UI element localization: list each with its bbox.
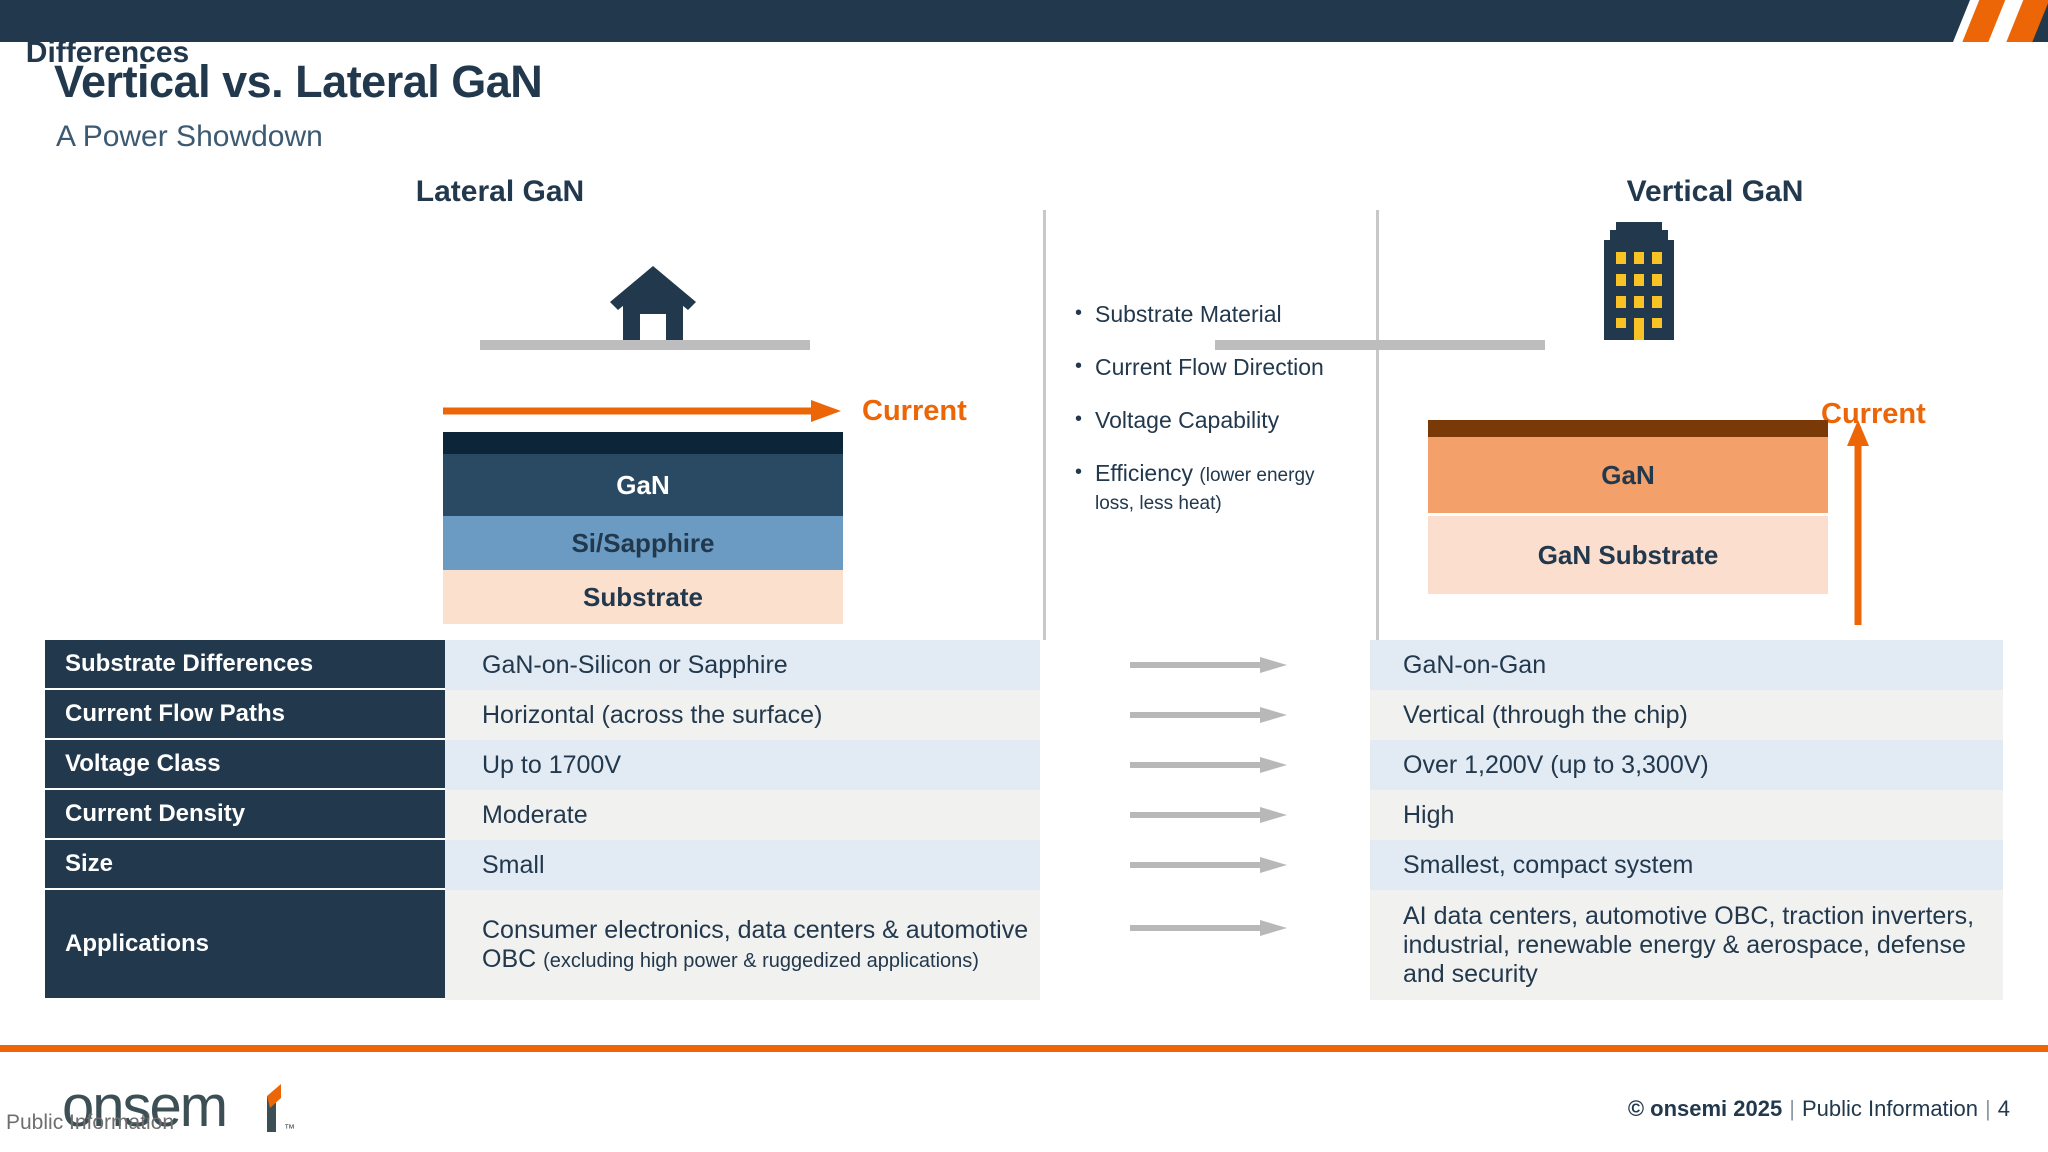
bullet-icon: • xyxy=(1075,459,1083,515)
table-row: Applications Consumer electronics, data … xyxy=(45,890,2003,1000)
comparison-arrow-icon xyxy=(1130,856,1288,874)
page-subtitle: A Power Showdown xyxy=(56,120,323,154)
table-row-label: Size xyxy=(45,840,445,890)
table-arrow-cell xyxy=(1040,640,1370,690)
table-row: Substrate Differences GaN-on-Silicon or … xyxy=(45,640,2003,690)
list-item: • Current Flow Direction xyxy=(1075,353,1350,381)
table-cell-vertical: AI data centers, automotive OBC, tractio… xyxy=(1370,890,2003,1000)
current-label-lateral: Current xyxy=(862,395,967,428)
comparison-arrow-icon xyxy=(1130,756,1288,774)
list-item: • Substrate Material xyxy=(1075,300,1350,328)
table-arrow-cell xyxy=(1040,890,1370,1000)
comparison-table: Substrate Differences GaN-on-Silicon or … xyxy=(45,640,2003,1000)
lateral-column-heading: Lateral GaN xyxy=(330,175,670,209)
table-cell-vertical: GaN-on-Gan xyxy=(1370,640,2003,690)
house-icon xyxy=(608,262,698,340)
bullet-icon: • xyxy=(1075,300,1083,328)
ground-line-vertical xyxy=(1215,340,1545,350)
table-cell-lateral: Small xyxy=(445,840,1040,890)
footer-separator-2: | xyxy=(1985,1096,1991,1121)
table-row: Voltage Class Up to 1700V Over 1,200V (u… xyxy=(45,740,2003,790)
list-item: • Efficiency (lower energy loss, less he… xyxy=(1075,459,1350,515)
table-cell-lateral: GaN-on-Silicon or Sapphire xyxy=(445,640,1040,690)
table-cell-lateral: Horizontal (across the surface) xyxy=(445,690,1040,740)
list-item-main-text: Efficiency xyxy=(1095,460,1193,486)
vertical-stack-diagram: GaN GaN Substrate xyxy=(1428,420,1828,594)
footer-accent-rule xyxy=(0,1045,2048,1052)
lateral-layer-substrate: Substrate xyxy=(443,570,843,624)
bullet-icon: • xyxy=(1075,353,1083,381)
current-label-vertical: Current xyxy=(1821,398,1926,431)
vertical-column-heading: Vertical GaN xyxy=(1545,175,1885,209)
table-cell-vertical: Smallest, compact system xyxy=(1370,840,2003,890)
ground-line-lateral xyxy=(480,340,810,350)
public-information-watermark: Public Information xyxy=(6,1111,174,1135)
comparison-arrow-icon xyxy=(1130,806,1288,824)
table-cell-lateral-note: (excluding high power & ruggedized appli… xyxy=(543,950,979,972)
table-cell-lateral: Up to 1700V xyxy=(445,740,1040,790)
table-arrow-cell xyxy=(1040,840,1370,890)
table-arrow-cell xyxy=(1040,740,1370,790)
lateral-layer-cap xyxy=(443,432,843,454)
lateral-layer-gan: GaN xyxy=(443,454,843,516)
footer-page-number: 4 xyxy=(1998,1096,2010,1121)
page-title: Vertical vs. Lateral GaN xyxy=(54,56,542,108)
table-arrow-cell xyxy=(1040,790,1370,840)
list-item-label: Voltage Capability xyxy=(1095,406,1279,434)
table-row-label: Current Flow Paths xyxy=(45,690,445,740)
current-arrow-vertical-icon xyxy=(1843,420,1873,625)
table-cell-lateral: Moderate xyxy=(445,790,1040,840)
key-differences-list: • Substrate Material • Current Flow Dire… xyxy=(1075,300,1350,540)
footer-meta: © onsemi 2025|Public Information|4 xyxy=(1628,1096,2010,1122)
vertical-layer-gan-substrate: GaN Substrate xyxy=(1428,516,1828,594)
building-icon xyxy=(1598,222,1680,340)
lateral-stack-diagram: GaN Si/Sapphire Substrate xyxy=(443,432,843,624)
footer-separator-1: | xyxy=(1789,1096,1795,1121)
vertical-layer-gan: GaN xyxy=(1428,437,1828,513)
table-cell-lateral: Consumer electronics, data centers & aut… xyxy=(445,890,1040,1000)
current-arrow-horizontal-icon xyxy=(443,398,843,424)
footer-copyright: © onsemi 2025 xyxy=(1628,1096,1782,1121)
table-row-label: Current Density xyxy=(45,790,445,840)
table-row: Current Density Moderate High xyxy=(45,790,2003,840)
table-cell-vertical: High xyxy=(1370,790,2003,840)
table-row-label: Applications xyxy=(45,890,445,1000)
footer-classification: Public Information xyxy=(1802,1096,1978,1121)
bullet-icon: • xyxy=(1075,406,1083,434)
table-row: Current Flow Paths Horizontal (across th… xyxy=(45,690,2003,740)
table-cell-vertical: Over 1,200V (up to 3,300V) xyxy=(1370,740,2003,790)
comparison-arrow-icon xyxy=(1130,656,1288,674)
list-item: • Voltage Capability xyxy=(1075,406,1350,434)
divider-left xyxy=(1043,210,1046,642)
svg-text:™: ™ xyxy=(284,1123,295,1135)
top-bar-slash-group xyxy=(1868,0,2048,42)
table-row-label: Voltage Class xyxy=(45,740,445,790)
list-item-label: Efficiency (lower energy loss, less heat… xyxy=(1095,459,1350,515)
list-item-label: Substrate Material xyxy=(1095,300,1282,328)
divider-right xyxy=(1376,210,1379,642)
table-arrow-cell xyxy=(1040,690,1370,740)
slide-root: Vertical vs. Lateral GaN A Power Showdow… xyxy=(0,0,2048,1152)
table-row: Size Small Smallest, compact system xyxy=(45,840,2003,890)
table-cell-vertical: Vertical (through the chip) xyxy=(1370,690,2003,740)
list-item-label: Current Flow Direction xyxy=(1095,353,1324,381)
comparison-arrow-icon xyxy=(1130,706,1288,724)
lateral-layer-si-sapphire: Si/Sapphire xyxy=(443,516,843,570)
vertical-layer-cap xyxy=(1428,420,1828,437)
comparison-arrow-icon xyxy=(1130,919,1288,937)
top-accent-bar xyxy=(0,0,2048,42)
table-row-label: Substrate Differences xyxy=(45,640,445,690)
